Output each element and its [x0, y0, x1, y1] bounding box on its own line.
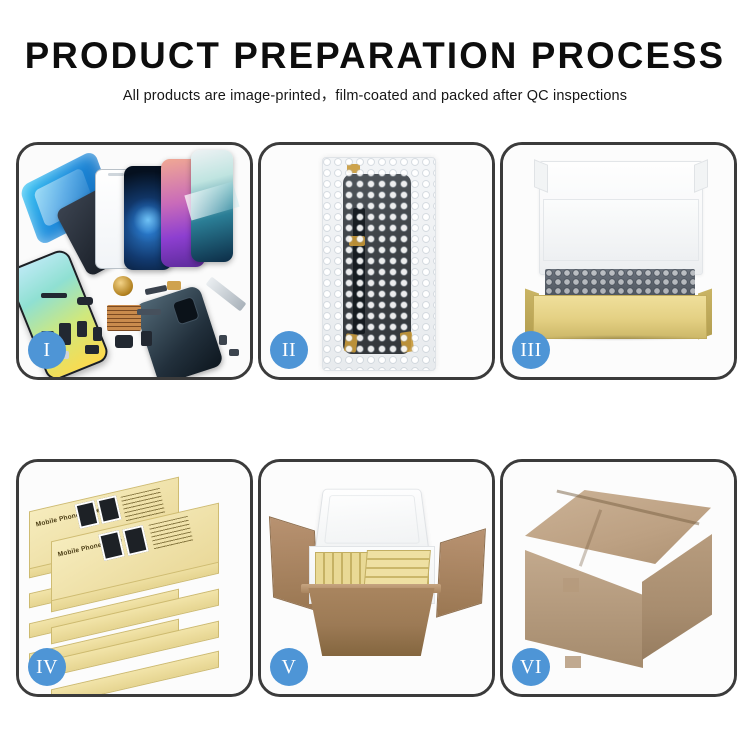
spare-part-icon [77, 321, 87, 337]
kraft-box-front [533, 295, 707, 339]
teal-gradient-phone-icon [191, 150, 233, 262]
spare-part-icon [167, 281, 181, 290]
step-badge-1: I [28, 331, 66, 369]
foam-sheet-icon [543, 199, 699, 261]
step-badge-2: II [270, 331, 308, 369]
step-panel-5[interactable]: V [258, 459, 495, 697]
step-panel-1[interactable]: I [16, 142, 253, 380]
speaker-coil-icon [113, 276, 133, 296]
step-panel-6[interactable]: VI [500, 459, 737, 697]
spare-part-icon [41, 293, 67, 298]
step-badge-6: VI [512, 648, 550, 686]
box-drop-shadow [537, 335, 703, 341]
shipping-carton-left-face [525, 550, 643, 668]
page-header: PRODUCT PREPARATION PROCESS All products… [0, 0, 750, 106]
spare-part-icon [137, 309, 161, 315]
page-title: PRODUCT PREPARATION PROCESS [4, 36, 747, 76]
carton-right-flap [436, 528, 486, 618]
tape-icon [347, 164, 360, 173]
step-panel-4[interactable]: Mobile Phone Spare Parts Mobile Phone Sp… [16, 459, 253, 697]
tape-icon [344, 333, 358, 352]
spare-part-icon [141, 331, 152, 346]
step-panel-3[interactable]: III [500, 142, 737, 380]
bubble-wrap-bag-icon [322, 157, 436, 371]
flex-cable-icon [353, 208, 365, 334]
tape-tab-icon [563, 578, 579, 592]
shipping-carton-top [525, 490, 711, 564]
spare-part-icon [77, 297, 93, 305]
spare-part-icon [219, 335, 227, 345]
tape-tab-icon [565, 656, 581, 668]
styrofoam-lid-icon [314, 489, 429, 552]
page-subtitle: All products are image-printed，film-coat… [0, 86, 750, 106]
spare-part-icon [229, 349, 239, 356]
tape-icon [400, 331, 415, 352]
process-steps-grid: I II III [16, 142, 737, 697]
copper-mesh-icon [107, 305, 141, 331]
spare-part-icon [145, 285, 168, 295]
step-badge-4: IV [28, 648, 66, 686]
step-panel-2[interactable]: II [258, 142, 495, 380]
carton-front-face [303, 588, 440, 656]
step-badge-3: III [512, 331, 550, 369]
spare-part-icon [85, 345, 99, 354]
spare-part-icon [115, 335, 133, 348]
tweezers-icon [206, 277, 247, 312]
tape-icon [349, 236, 365, 246]
spare-part-icon [93, 327, 102, 341]
step-badge-5: V [270, 648, 308, 686]
